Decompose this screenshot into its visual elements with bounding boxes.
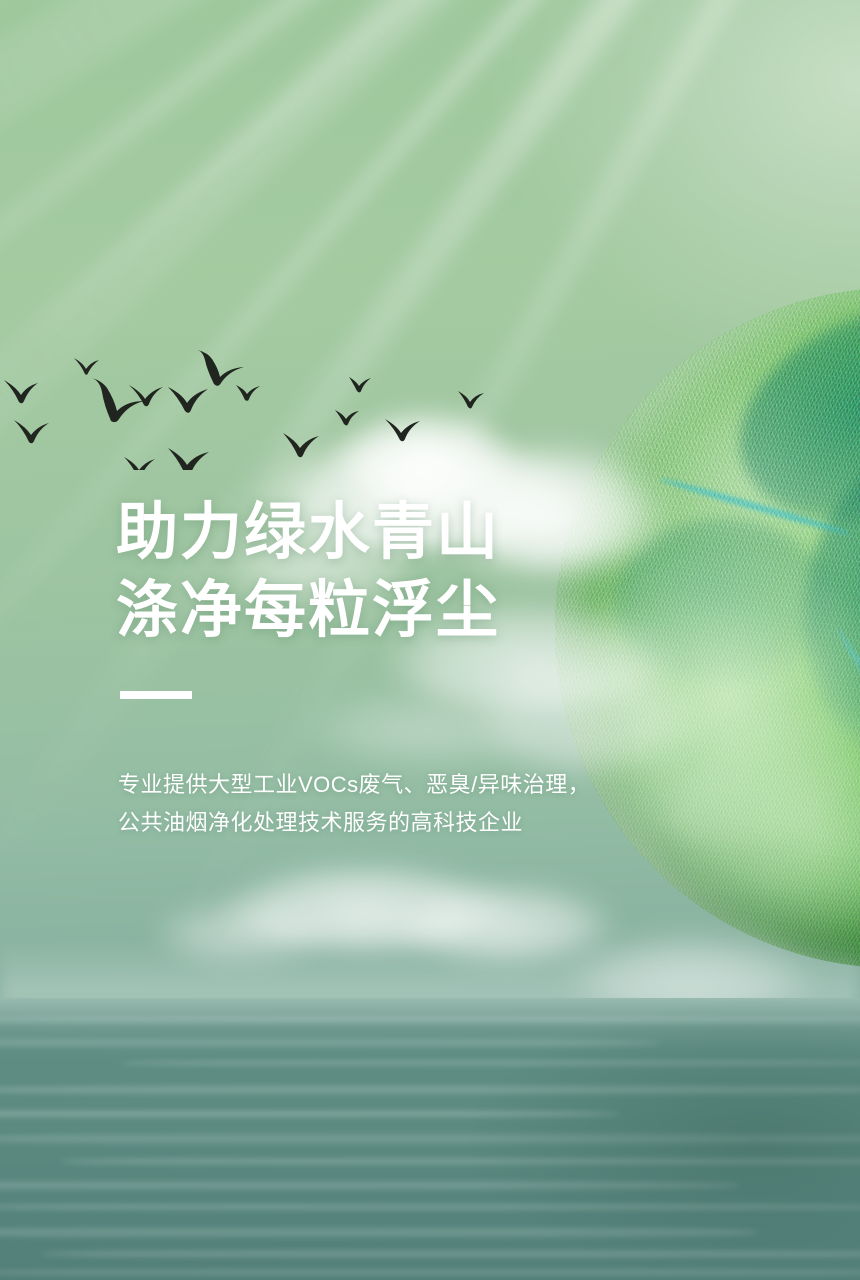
subtitle-line-1: 专业提供大型工业VOCs废气、恶臭/异味治理， (118, 766, 590, 804)
headline-line-1: 助力绿水青山 (116, 494, 500, 572)
hero-content: 助力绿水青山 涤净每粒浮尘 专业提供大型工业VOCs废气、恶臭/异味治理， 公共… (0, 0, 860, 1280)
title-divider (120, 691, 192, 699)
headline-line-2: 涤净每粒浮尘 (116, 572, 500, 650)
subtitle-line-2: 公共油烟净化处理技术服务的高科技企业 (118, 804, 590, 842)
page-subtitle: 专业提供大型工业VOCs废气、恶臭/异味治理， 公共油烟净化处理技术服务的高科技… (118, 766, 590, 842)
page-title: 助力绿水青山 涤净每粒浮尘 (116, 494, 500, 650)
hero-banner: 助力绿水青山 涤净每粒浮尘 专业提供大型工业VOCs废气、恶臭/异味治理， 公共… (0, 0, 860, 1280)
